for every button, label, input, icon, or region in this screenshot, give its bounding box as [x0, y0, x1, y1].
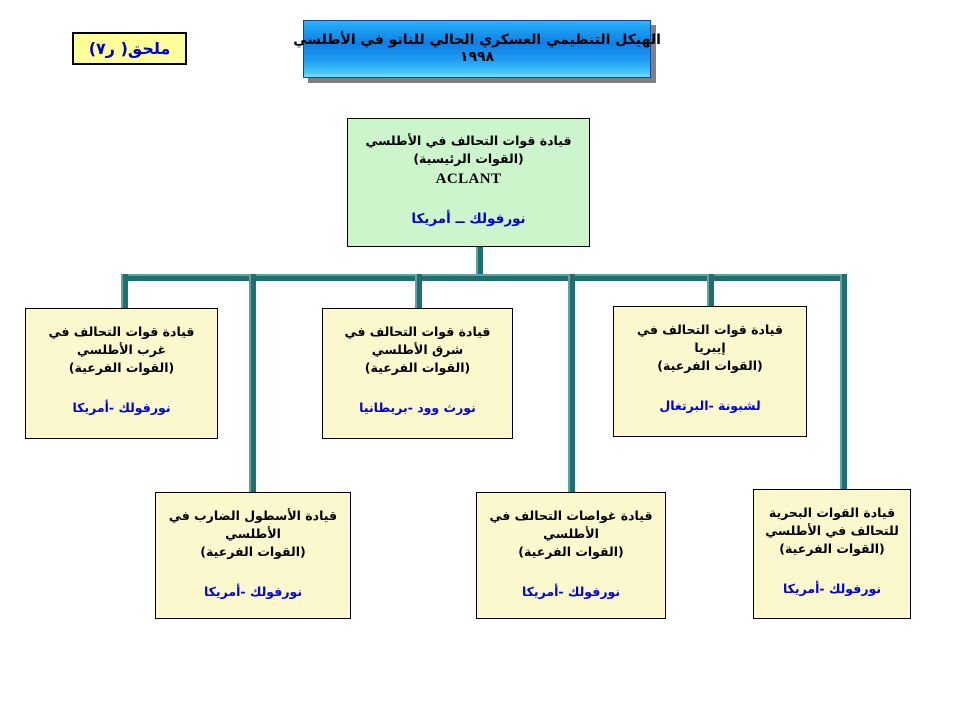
- node-striking-fleet-name-line2: الأطلسي: [225, 525, 281, 543]
- node-aclant-location: نورفولك ــ أمريكا: [411, 210, 525, 229]
- connector-drop-iberia: [707, 274, 714, 308]
- node-striking-fleet-force-level: (القوات الفرعية): [200, 543, 305, 561]
- chart-title-banner: الهيكل التنظيمي العسكري الحالي للناتو في…: [303, 20, 651, 78]
- node-west-atlantic-location: نورفولك -أمريكا: [72, 399, 170, 417]
- node-aclant-force-level: (القوات الرئيسية): [413, 150, 523, 168]
- title-gradient-box: الهيكل التنظيمي العسكري الحالي للناتو في…: [303, 20, 651, 78]
- node-iberia-force-level: (القوات الفرعية): [657, 357, 762, 375]
- node-west-atlantic[interactable]: قيادة قوات التحالف في غرب الأطلسي (القوا…: [25, 308, 218, 439]
- node-east-atlantic-location: نورث وود -بريطانيا: [359, 399, 476, 417]
- node-naval-forces-location: نورفولك -أمريكا: [783, 580, 881, 598]
- node-aclant-acronym: ACLANT: [436, 168, 502, 191]
- node-naval-forces-name-line1: قيادة القوات البحرية: [769, 504, 895, 522]
- connector-drop-strike: [249, 274, 256, 494]
- node-iberia-name-line2: إيبريا: [694, 339, 725, 357]
- node-submarines[interactable]: قيادة غواصات التحالف في الأطلسي (القوات …: [476, 492, 666, 619]
- connector-drop-east: [415, 274, 422, 310]
- node-submarines-force-level: (القوات الفرعية): [518, 543, 623, 561]
- node-iberia[interactable]: قيادة قوات التحالف في إيبريا (القوات الف…: [613, 306, 807, 437]
- node-aclant-name: قيادة قوات التحالف في الأطلسي: [365, 132, 571, 150]
- node-submarines-name-line2: الأطلسي: [543, 525, 599, 543]
- node-naval-forces[interactable]: قيادة القوات البحرية للتحالف في الأطلسي …: [753, 489, 911, 619]
- node-iberia-name-line1: قيادة قوات التحالف في: [637, 321, 783, 339]
- node-submarines-location: نورفولك -أمريكا: [522, 583, 620, 601]
- connector-drop-naval: [840, 274, 847, 491]
- node-west-atlantic-name-line1: قيادة قوات التحالف في: [49, 323, 195, 341]
- connector-drop-submarine: [568, 274, 575, 494]
- node-east-atlantic-name-line2: شرق الأطلسي: [372, 341, 463, 359]
- node-east-atlantic[interactable]: قيادة قوات التحالف في شرق الأطلسي (القوا…: [322, 308, 513, 439]
- node-iberia-location: لشبونة -البرتغال: [659, 397, 760, 415]
- org-chart-canvas: ملحق( ر٧) الهيكل التنظيمي العسكري الحالي…: [0, 0, 959, 719]
- node-aclant-root[interactable]: قيادة قوات التحالف في الأطلسي (القوات ال…: [347, 118, 590, 247]
- connector-drop-west: [121, 274, 128, 310]
- annex-label-box: ملحق( ر٧): [72, 32, 187, 65]
- node-west-atlantic-name-line2: غرب الأطلسي: [77, 341, 166, 359]
- node-striking-fleet-name-line1: قيادة الأسطول الضارب في: [169, 507, 337, 525]
- chart-title-year: ١٩٩٨: [460, 49, 494, 67]
- annex-label-text: ملحق( ر٧): [89, 41, 171, 57]
- node-submarines-name-line1: قيادة غواصات التحالف في: [489, 507, 652, 525]
- node-naval-forces-force-level: (القوات الفرعية): [779, 540, 884, 558]
- node-striking-fleet-location: نورفولك -أمريكا: [204, 583, 302, 601]
- node-west-atlantic-force-level: (القوات الفرعية): [69, 359, 174, 377]
- chart-title-line1: الهيكل التنظيمي العسكري الحالي للناتو في…: [293, 32, 661, 50]
- node-east-atlantic-force-level: (القوات الفرعية): [365, 359, 470, 377]
- node-striking-fleet[interactable]: قيادة الأسطول الضارب في الأطلسي (القوات …: [155, 492, 351, 619]
- node-east-atlantic-name-line1: قيادة قوات التحالف في: [345, 323, 491, 341]
- node-naval-forces-name-line2: للتحالف في الأطلسي: [765, 522, 899, 540]
- connector-horizontal-bus: [121, 274, 847, 281]
